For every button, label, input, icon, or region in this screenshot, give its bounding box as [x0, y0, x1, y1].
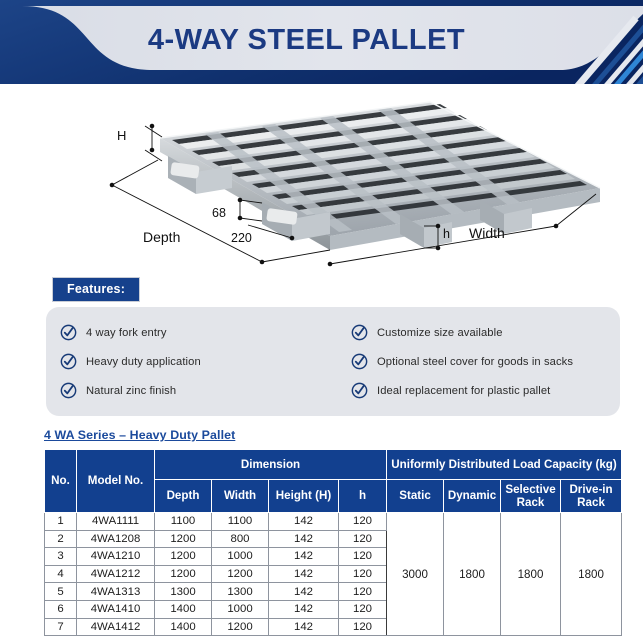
check-circle-icon: [351, 324, 368, 341]
cell-width: 1200: [212, 618, 269, 636]
cell-depth: 1200: [155, 530, 212, 548]
cell-height: 142: [269, 512, 339, 530]
pallet-technical-drawing: H 68 220 Depth h Width: [0, 90, 643, 275]
cell-h: 120: [339, 548, 387, 566]
features-badge: Features:: [52, 277, 140, 302]
feature-label: Customize size available: [377, 327, 503, 339]
page-title: 4-WAY STEEL PALLET: [0, 24, 643, 57]
check-circle-icon: [351, 353, 368, 370]
cell-depth: 1200: [155, 548, 212, 566]
header-width: Width: [212, 480, 269, 513]
cell-depth: 1100: [155, 512, 212, 530]
cell-model: 4WA1208: [77, 530, 155, 548]
feature-item: Ideal replacement for plastic pallet: [351, 376, 606, 405]
cell-width: 1300: [212, 583, 269, 601]
callout-label-H: H: [117, 128, 126, 143]
feature-item: Optional steel cover for goods in sacks: [351, 347, 606, 376]
cell-width: 800: [212, 530, 269, 548]
cell-height: 142: [269, 530, 339, 548]
cell-h: 120: [339, 512, 387, 530]
cell-h: 120: [339, 565, 387, 583]
feature-item: Heavy duty application: [60, 347, 333, 376]
cell-model: 4WA1410: [77, 600, 155, 618]
header-dimension-group: Dimension: [155, 450, 387, 480]
cell-width: 1100: [212, 512, 269, 530]
cell-h: 120: [339, 530, 387, 548]
feature-item: Customize size available: [351, 318, 606, 347]
cell-height: 142: [269, 600, 339, 618]
feature-label: Natural zinc finish: [86, 385, 176, 397]
header-model: Model No.: [77, 450, 155, 513]
feature-label: Heavy duty application: [86, 356, 201, 368]
header-no: No.: [45, 450, 77, 513]
cell-model: 4WA1313: [77, 583, 155, 601]
cell-model: 4WA1111: [77, 512, 155, 530]
table-header: No. Model No. Dimension Uniformly Distri…: [45, 450, 622, 513]
cell-model: 4WA1210: [77, 548, 155, 566]
page-header-banner: 4-WAY STEEL PALLET: [0, 0, 643, 88]
cell-h: 120: [339, 618, 387, 636]
header-drive-in-rack: Drive-in Rack: [561, 480, 622, 513]
cell-no: 2: [45, 530, 77, 548]
cell-width: 1000: [212, 548, 269, 566]
feature-item: 4 way fork entry: [60, 318, 333, 347]
cell-h: 120: [339, 583, 387, 601]
left-margin-gutter: [0, 88, 22, 643]
table-row: 1 4WA1111 1100 1100 142 120 3000 1800 18…: [45, 512, 622, 530]
cell-model: 4WA1212: [77, 565, 155, 583]
feature-label: 4 way fork entry: [86, 327, 167, 339]
cell-h: 120: [339, 600, 387, 618]
cell-depth: 1400: [155, 600, 212, 618]
cell-no: 6: [45, 600, 77, 618]
product-illustration: H 68 220 Depth h Width: [0, 90, 643, 275]
cell-depth: 1400: [155, 618, 212, 636]
features-column-right: Customize size available Optional steel …: [333, 318, 606, 405]
feature-item: Natural zinc finish: [60, 376, 333, 405]
check-circle-icon: [60, 382, 77, 399]
header-height: Height (H): [269, 480, 339, 513]
cell-dynamic-capacity: 1800: [444, 512, 501, 635]
cell-no: 1: [45, 512, 77, 530]
cell-no: 7: [45, 618, 77, 636]
callout-label-width: Width: [469, 225, 505, 241]
cell-static-capacity: 3000: [387, 512, 444, 635]
specification-section: 4 WA Series – Heavy Duty Pallet No. Mode…: [0, 426, 643, 636]
callout-label-depth: Depth: [143, 229, 180, 245]
cell-height: 142: [269, 548, 339, 566]
cell-depth: 1300: [155, 583, 212, 601]
table-header-row-group: No. Model No. Dimension Uniformly Distri…: [45, 450, 622, 480]
callout-label-h: h: [443, 227, 450, 241]
header-h: h: [339, 480, 387, 513]
callout-label-220: 220: [231, 231, 252, 245]
header-dynamic: Dynamic: [444, 480, 501, 513]
cell-width: 1200: [212, 565, 269, 583]
header-depth: Depth: [155, 480, 212, 513]
features-section: Features: 4 way fork entry Heavy duty ap…: [0, 277, 643, 416]
cell-selective-rack-capacity: 1800: [501, 512, 561, 635]
specification-table: No. Model No. Dimension Uniformly Distri…: [44, 449, 622, 636]
cell-no: 4: [45, 565, 77, 583]
check-circle-icon: [60, 324, 77, 341]
cell-height: 142: [269, 583, 339, 601]
cell-height: 142: [269, 618, 339, 636]
cell-no: 5: [45, 583, 77, 601]
header-static: Static: [387, 480, 444, 513]
cell-no: 3: [45, 548, 77, 566]
features-column-left: 4 way fork entry Heavy duty application …: [60, 318, 333, 405]
header-selective-rack: Selective Rack: [501, 480, 561, 513]
table-body: 1 4WA1111 1100 1100 142 120 3000 1800 18…: [45, 512, 622, 635]
feature-label: Optional steel cover for goods in sacks: [377, 356, 573, 368]
check-circle-icon: [351, 382, 368, 399]
cell-model: 4WA1412: [77, 618, 155, 636]
feature-label: Ideal replacement for plastic pallet: [377, 385, 550, 397]
cell-width: 1000: [212, 600, 269, 618]
header-load-capacity-group: Uniformly Distributed Load Capacity (kg): [387, 450, 622, 480]
cell-height: 142: [269, 565, 339, 583]
check-circle-icon: [60, 353, 77, 370]
cell-depth: 1200: [155, 565, 212, 583]
features-panel: 4 way fork entry Heavy duty application …: [46, 307, 620, 416]
callout-label-68: 68: [212, 206, 226, 220]
series-title: 4 WA Series – Heavy Duty Pallet: [44, 428, 235, 442]
cell-drive-in-rack-capacity: 1800: [561, 512, 622, 635]
